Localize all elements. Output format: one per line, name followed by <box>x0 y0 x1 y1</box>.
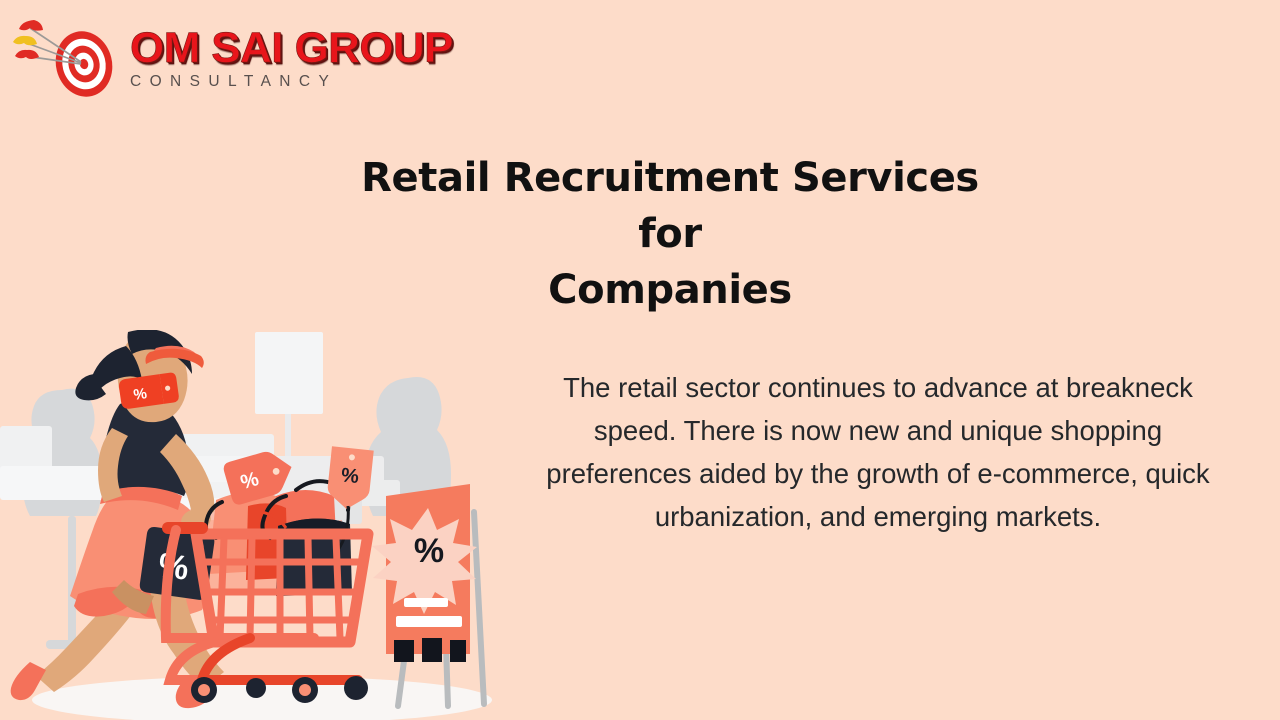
brand-tagline: CONSULTANCY <box>130 73 420 91</box>
woman-shopping-cart-sale-illustration: % % <box>0 330 500 720</box>
page-title-line-1: Retail Recruitment Services for <box>330 150 1010 262</box>
svg-text:%: % <box>340 464 360 488</box>
brand-logo-text: OM SAI GROUP CONSULTANCY <box>130 26 420 91</box>
brand-name: OM SAI GROUP <box>130 26 426 70</box>
svg-text:%: % <box>132 385 148 404</box>
slide-canvas: OM SAI GROUP CONSULTANCY Retail Recruitm… <box>0 0 1280 720</box>
brand-logo[interactable]: OM SAI GROUP CONSULTANCY <box>12 12 412 102</box>
page-title-line-2: Companies <box>330 262 1010 318</box>
page-title: Retail Recruitment Services for Companie… <box>330 150 1010 318</box>
body-paragraph: The retail sector continues to advance a… <box>533 366 1223 538</box>
svg-text:%: % <box>414 532 444 570</box>
target-bullseye-arrows-icon <box>12 12 127 97</box>
